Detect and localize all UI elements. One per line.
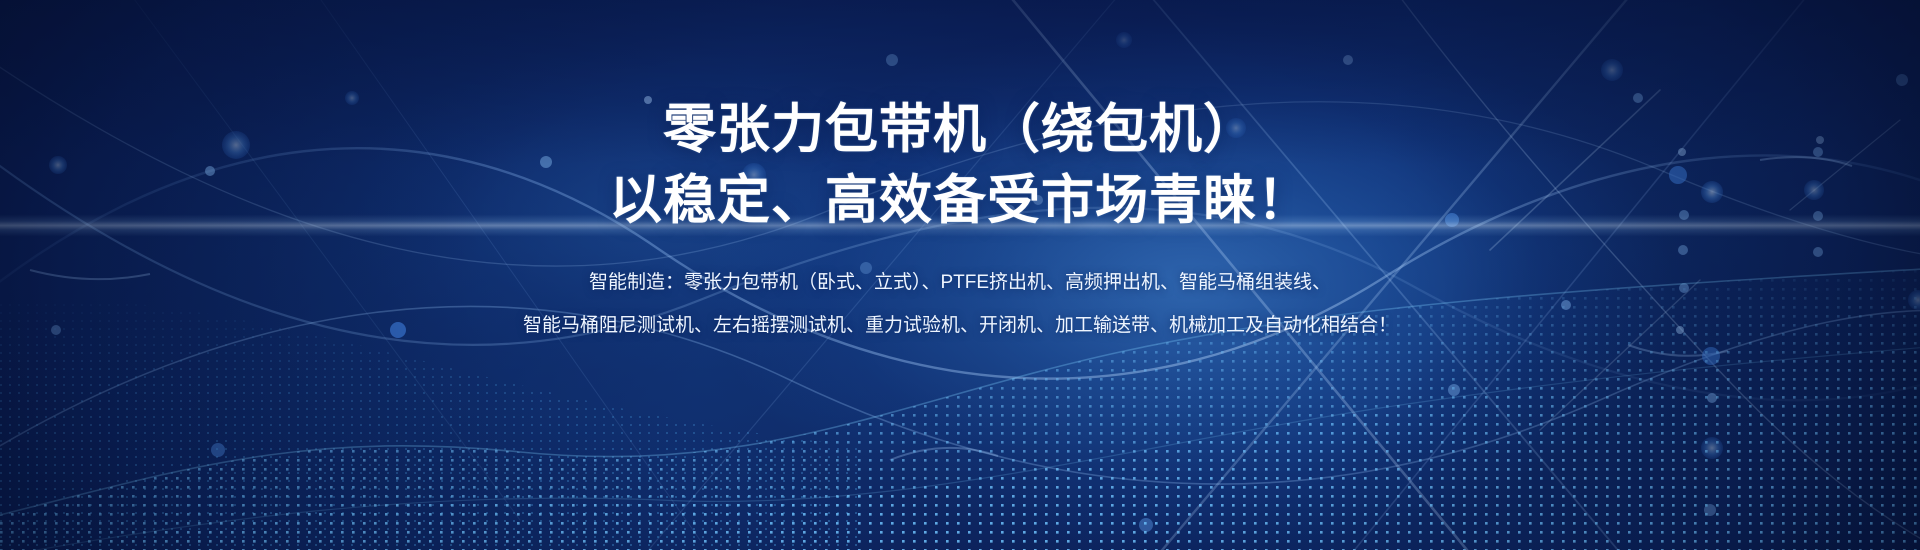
headline-line-1: 零张力包带机（绕包机） [663,98,1257,163]
subheadline-line-2: 智能马桶阻尼测试机、左右摇摆测试机、重力试验机、开闭机、加工输送带、机械加工及自… [523,316,1397,337]
banner-content: 零张力包带机（绕包机） 以稳定、高效备受市场青睐！ 智能制造：零张力包带机（卧式… [0,0,1920,550]
subheadline-line-1: 智能制造：零张力包带机（卧式、立式）、PTFE挤出机、高频押出机、智能马桶组装线… [589,273,1331,294]
headline-line-2: 以稳定、高效备受市场青睐！ [609,169,1311,234]
hero-banner: 零张力包带机（绕包机） 以稳定、高效备受市场青睐！ 智能制造：零张力包带机（卧式… [0,0,1920,550]
